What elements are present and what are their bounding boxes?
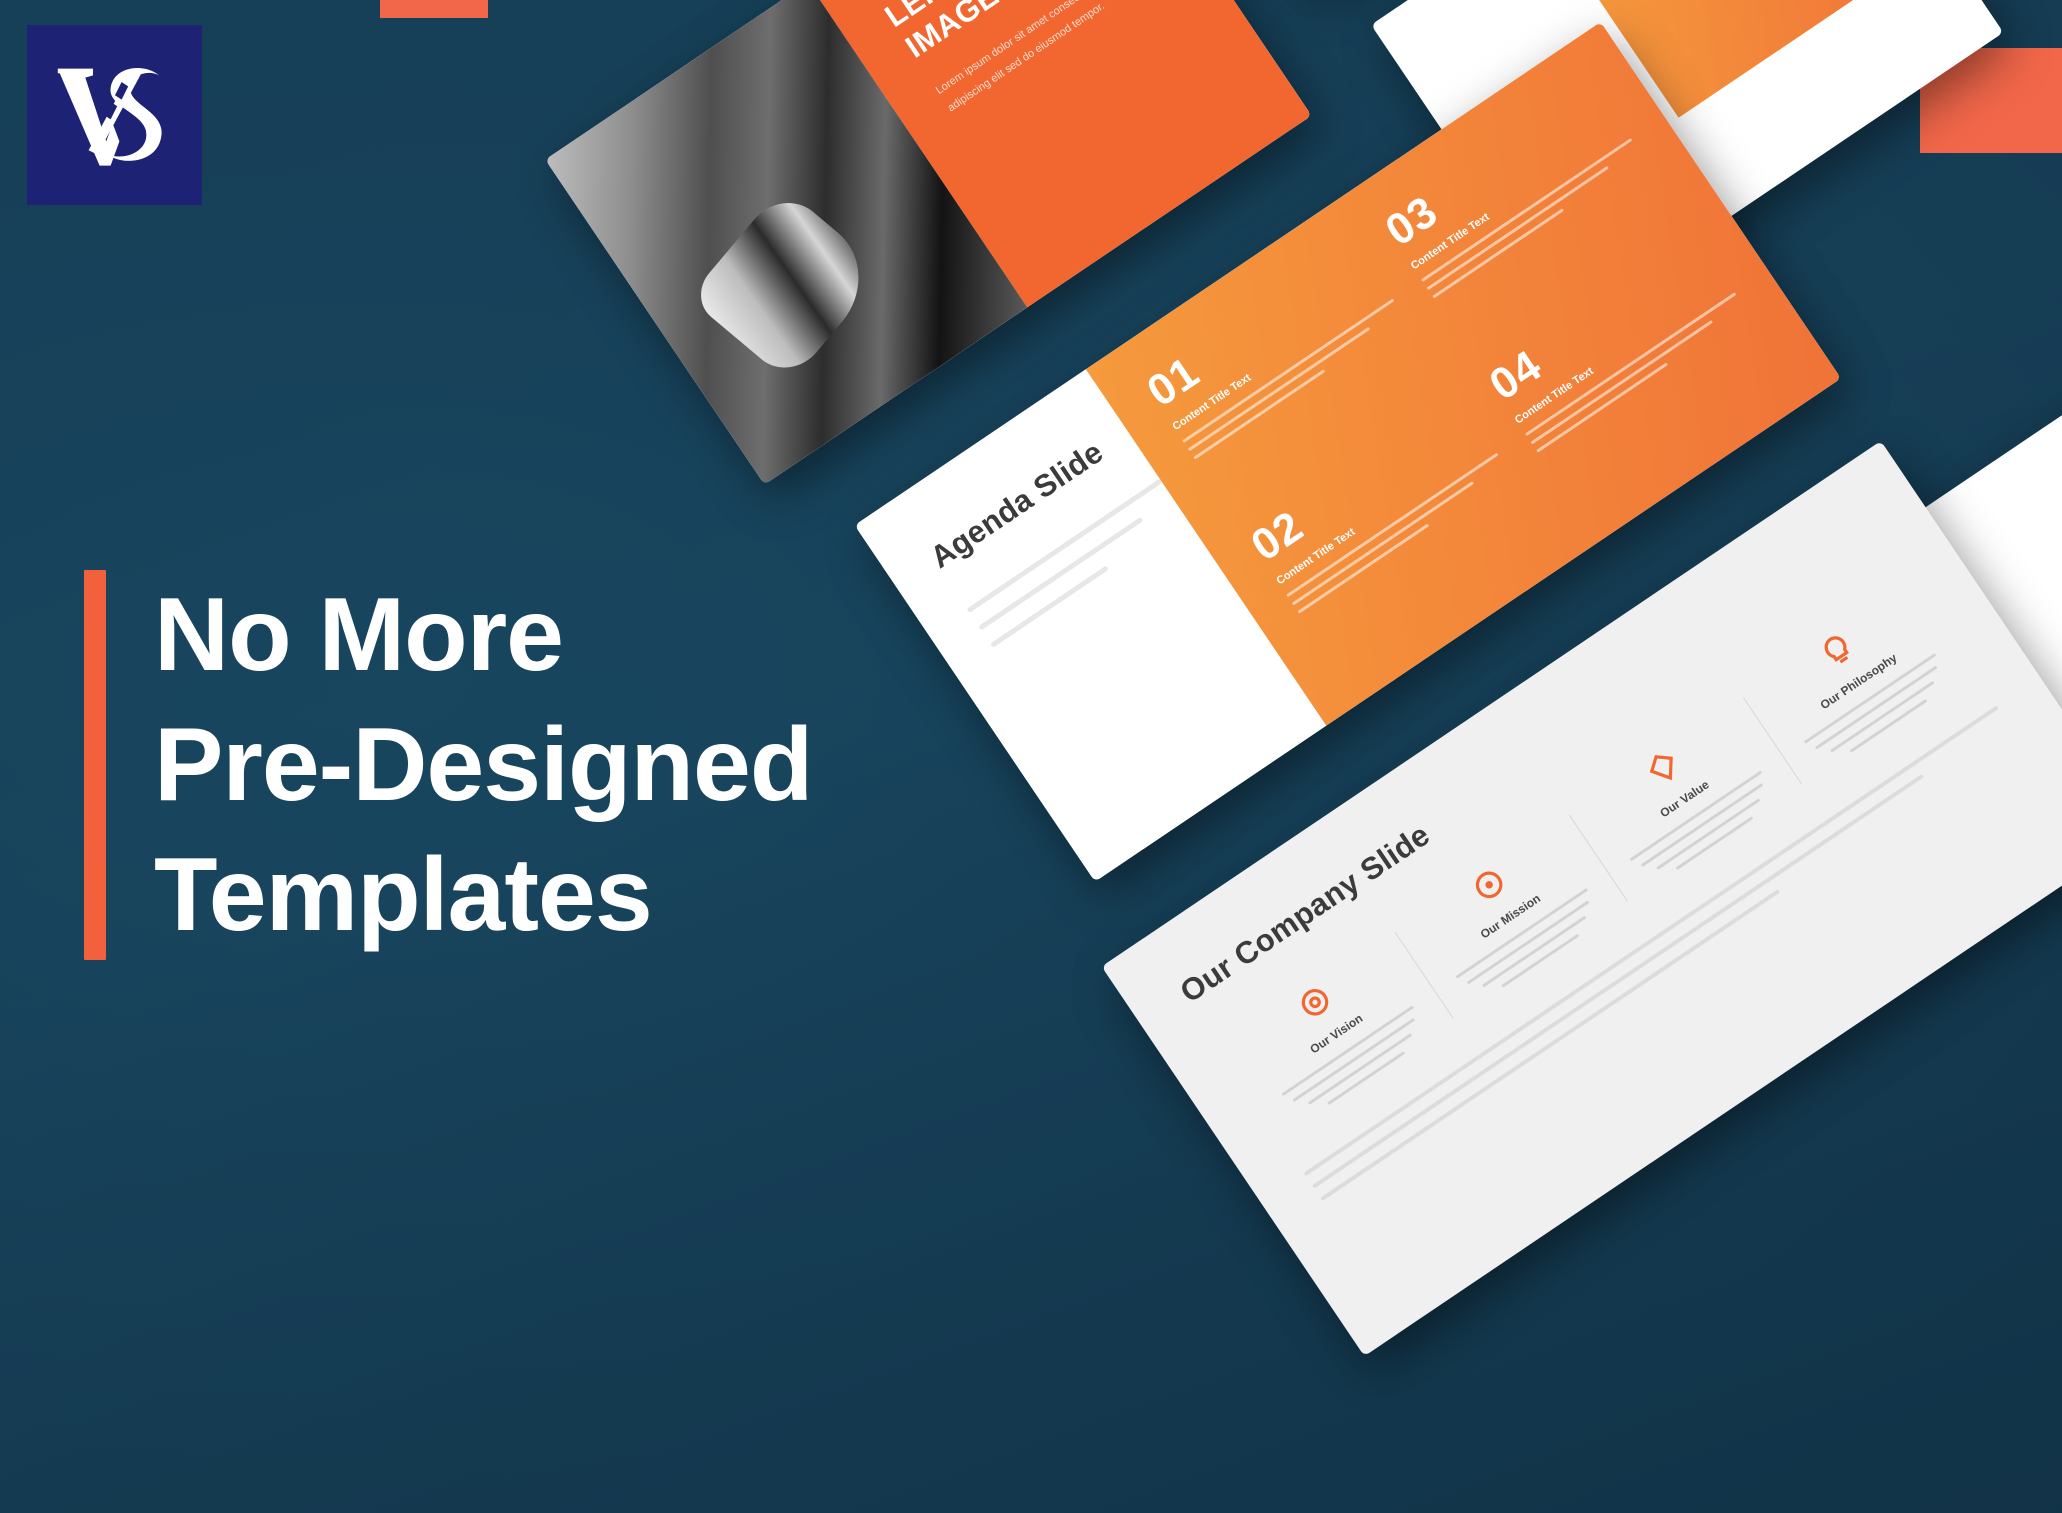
target-icon xyxy=(1466,861,1513,908)
headline-block: No More Pre-Designed Templates xyxy=(84,570,812,960)
headline-line-2: Pre-Designed xyxy=(154,700,812,830)
decorative-chip-top xyxy=(380,0,488,18)
diamond-icon xyxy=(1640,744,1687,791)
poster-canvas: LEFT IMAGE HOLDER Lorem ipsum dolor sit … xyxy=(0,0,2062,1513)
lightbulb-icon xyxy=(1814,626,1861,673)
vs-monogram-icon xyxy=(49,49,181,181)
headline-line-3: Templates xyxy=(154,830,812,960)
gear-icon xyxy=(1291,979,1338,1026)
headline-accent-bar xyxy=(84,570,106,960)
headline-text: No More Pre-Designed Templates xyxy=(154,570,812,960)
vs-logo xyxy=(27,25,202,205)
headline-line-1: No More xyxy=(154,570,812,700)
